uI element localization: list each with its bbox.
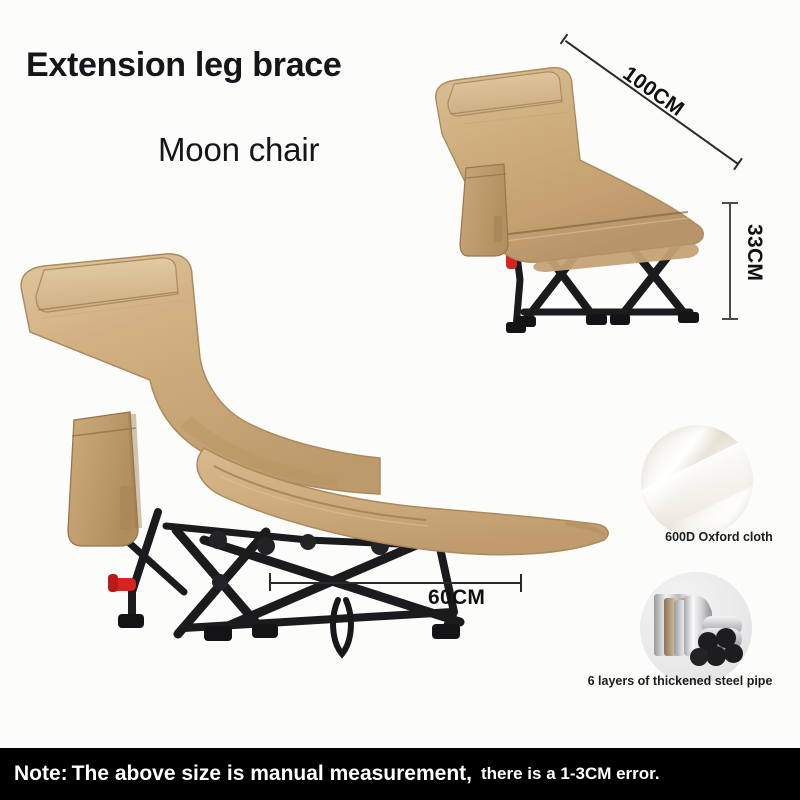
cloth-fold-highlight bbox=[641, 425, 753, 530]
steel-pipe-swatch-icon bbox=[640, 572, 752, 684]
steel-pipe-opening bbox=[724, 644, 743, 663]
page-subtitle: Moon chair bbox=[158, 131, 319, 169]
pull-strap bbox=[333, 600, 351, 654]
oxford-cloth-swatch-icon bbox=[641, 425, 753, 537]
dimension-line-width bbox=[270, 582, 522, 584]
dimension-line-height bbox=[729, 202, 731, 319]
dimension-label-height: 33CM bbox=[742, 224, 766, 281]
note-tolerance-text: there is a 1-3CM error. bbox=[481, 764, 660, 784]
oxford-cloth-caption: 600D Oxford cloth bbox=[644, 530, 794, 544]
dimension-tick-width-start bbox=[269, 573, 271, 591]
product-image-canvas: 100CM 33CM bbox=[0, 0, 800, 800]
steel-pipe-caption: 6 layers of thickened steel pipe bbox=[560, 674, 800, 688]
release-lever bbox=[108, 574, 136, 592]
note-prefix-label: Note: bbox=[14, 762, 68, 786]
lounger-svg bbox=[8, 240, 628, 670]
page-title: Extension leg brace bbox=[26, 46, 342, 85]
dimension-tick-width-end bbox=[520, 574, 522, 592]
dimension-label-width: 60CM bbox=[428, 586, 485, 610]
dimension-tick-height-bottom bbox=[722, 318, 738, 320]
extension-lounger-illustration bbox=[8, 240, 628, 670]
steel-pipe-opening bbox=[690, 648, 708, 666]
steel-pipe-opening bbox=[706, 646, 726, 666]
dimension-tick-height-top bbox=[722, 202, 738, 204]
disclaimer-bar: Note: The above size is manual measureme… bbox=[0, 748, 800, 800]
note-main-text: The above size is manual measurement, bbox=[72, 762, 472, 786]
